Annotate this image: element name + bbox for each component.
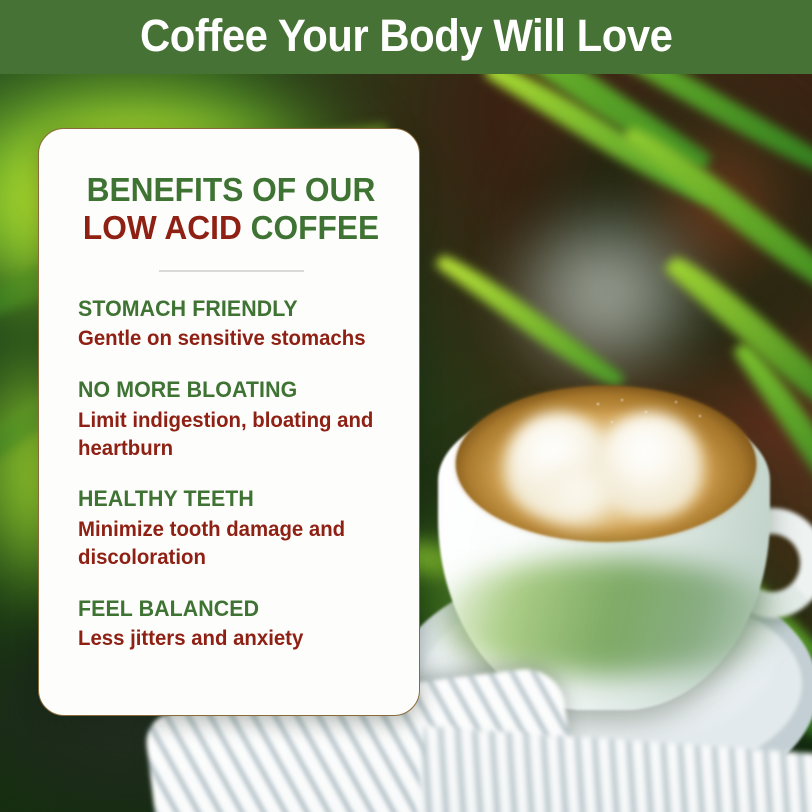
benefit-heading: FEEL BALANCED	[78, 596, 380, 623]
card-title-highlight: LOW ACID	[83, 209, 242, 246]
benefit-item: FEEL BALANCED Less jitters and anxiety	[78, 596, 389, 654]
benefit-description: Less jitters and anxiety	[78, 625, 379, 653]
benefit-heading: HEALTHY TEETH	[78, 486, 380, 513]
benefit-description: Limit indigestion, bloating and heartbur…	[78, 407, 379, 462]
benefit-item: STOMACH FRIENDLY Gentle on sensitive sto…	[78, 296, 389, 354]
benefit-description: Minimize tooth damage and discoloration	[78, 516, 379, 571]
background-bokeh-highlight	[480, 150, 780, 410]
foam-bubbles	[588, 392, 738, 452]
header-title: Coffee Your Body Will Love	[140, 13, 672, 61]
benefit-description: Gentle on sensitive stomachs	[78, 325, 379, 353]
card-title-line-1: BENEFITS OF OUR	[79, 171, 382, 209]
header-banner: Coffee Your Body Will Love	[0, 0, 812, 74]
benefits-card: BENEFITS OF OUR LOW ACID COFFEE STOMACH …	[38, 128, 420, 716]
benefit-heading: NO MORE BLOATING	[78, 377, 380, 404]
benefits-list: STOMACH FRIENDLY Gentle on sensitive sto…	[73, 296, 389, 654]
benefit-heading: STOMACH FRIENDLY	[78, 296, 380, 323]
benefit-item: NO MORE BLOATING Limit indigestion, bloa…	[78, 377, 389, 462]
cup-green-reflection	[432, 558, 782, 676]
title-divider	[159, 270, 304, 272]
card-title-line-2: LOW ACID COFFEE	[79, 209, 382, 247]
card-title-rest: COFFEE	[242, 209, 379, 246]
card-title: BENEFITS OF OUR LOW ACID COFFEE	[73, 171, 389, 248]
benefit-item: HEALTHY TEETH Minimize tooth damage and …	[78, 486, 389, 571]
latte-art-heart-tip	[530, 466, 622, 548]
